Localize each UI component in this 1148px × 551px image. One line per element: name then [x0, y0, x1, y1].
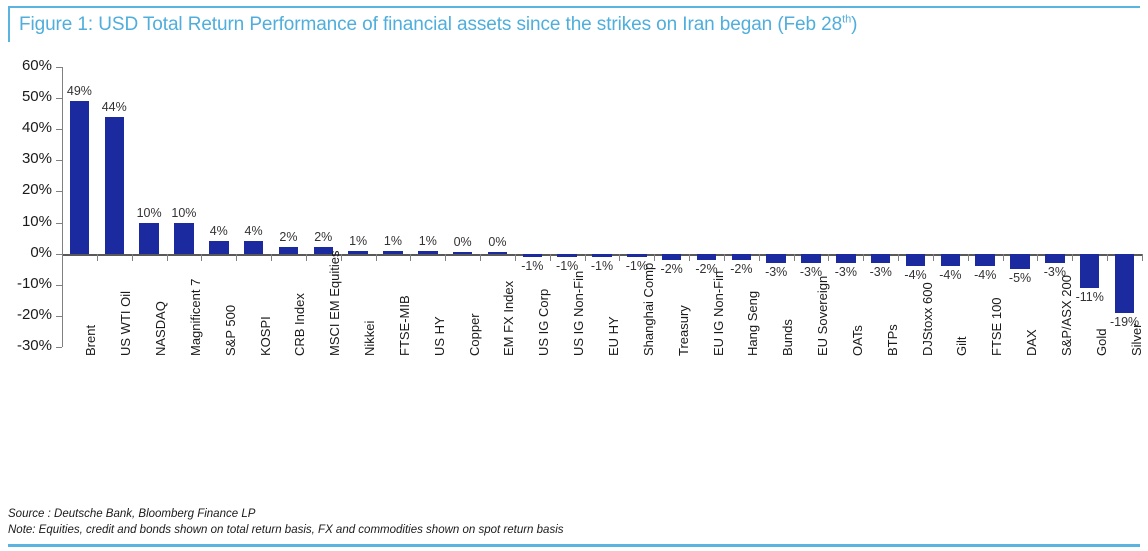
x-axis-tick [132, 254, 133, 261]
x-axis-tick [480, 254, 481, 261]
x-axis-tick [97, 254, 98, 261]
x-axis-tick [1072, 254, 1073, 261]
y-axis-label: 40% [0, 120, 52, 136]
bar [592, 254, 612, 257]
x-axis-category-label: EU Sovereign [816, 276, 829, 356]
x-axis-tick [863, 254, 864, 261]
bar [174, 223, 194, 254]
x-axis-tick [933, 254, 934, 261]
bar [836, 254, 856, 263]
x-axis-tick [1003, 254, 1004, 261]
bar [279, 247, 299, 253]
y-axis-label: 10% [0, 214, 52, 230]
y-axis-label: 20% [0, 182, 52, 198]
y-axis-label: 30% [0, 151, 52, 167]
x-axis-tick [585, 254, 586, 261]
x-axis-category-label: S&P 500 [224, 305, 237, 356]
x-axis-tick [445, 254, 446, 261]
x-axis-category-label: FTSE-MIB [398, 295, 411, 356]
bar [383, 251, 403, 254]
bar [1115, 254, 1135, 313]
x-axis-category-label: MSCI EM Equities [328, 251, 341, 356]
bar [1080, 254, 1100, 288]
x-axis-tick [689, 254, 690, 261]
x-axis-tick [341, 254, 342, 261]
x-axis-tick [654, 254, 655, 261]
x-axis-tick [794, 254, 795, 261]
figure-container: Figure 1: USD Total Return Performance o… [0, 0, 1148, 551]
y-axis-tick [56, 316, 62, 317]
x-axis-category-label: Nikkei [363, 321, 376, 356]
y-axis-label: 60% [0, 58, 52, 74]
x-axis-tick [236, 254, 237, 261]
x-axis-tick [724, 254, 725, 261]
y-axis-tick [56, 223, 62, 224]
bar [488, 252, 508, 254]
bar [732, 254, 752, 260]
y-axis-label: 0% [0, 245, 52, 261]
x-axis-category-label: S&P/ASX 200 [1060, 275, 1073, 356]
bar [871, 254, 891, 263]
x-axis-category-label: Brent [84, 325, 97, 356]
bar [523, 254, 543, 257]
y-axis-label: -10% [0, 276, 52, 292]
x-axis-category-label: DJStoxx 600 [921, 282, 934, 356]
x-axis-tick [550, 254, 551, 261]
x-axis-tick [968, 254, 969, 261]
x-axis-tick [759, 254, 760, 261]
y-axis-tick [56, 129, 62, 130]
bar [801, 254, 821, 263]
bar [697, 254, 717, 260]
x-axis-tick [1142, 254, 1143, 261]
x-axis-category-label: EU HY [607, 316, 620, 356]
bar-value-label: 49% [53, 85, 105, 98]
bar [662, 254, 682, 260]
x-axis-category-label: US HY [433, 316, 446, 356]
bar [418, 251, 438, 254]
bar [105, 117, 125, 254]
x-axis-tick [619, 254, 620, 261]
bar [941, 254, 961, 266]
x-axis-category-label: CRB Index [293, 293, 306, 356]
y-axis-label: -20% [0, 307, 52, 323]
bottom-divider [8, 544, 1140, 547]
y-axis-tick [56, 191, 62, 192]
x-axis-tick [1037, 254, 1038, 261]
x-axis-category-label: Treasury [677, 305, 690, 356]
y-axis-tick [56, 160, 62, 161]
x-axis-category-label: Bunds [781, 319, 794, 356]
x-axis-tick [306, 254, 307, 261]
bar [348, 251, 368, 254]
x-axis-category-label: Silver [1130, 323, 1143, 356]
x-axis-category-label: EM FX Index [502, 281, 515, 356]
bar-value-label: 10% [158, 207, 210, 220]
y-axis-label: -30% [0, 338, 52, 354]
y-axis-line [62, 67, 63, 347]
x-axis-tick [167, 254, 168, 261]
bar [139, 223, 159, 254]
bar [70, 101, 90, 253]
y-axis-tick [56, 67, 62, 68]
x-axis-category-label: BTPs [886, 324, 899, 356]
x-axis-category-label: US IG Non-Fin [572, 271, 585, 356]
x-axis-tick [898, 254, 899, 261]
x-axis-category-label: Magnificent 7 [189, 279, 202, 356]
x-axis-tick [410, 254, 411, 261]
x-axis-category-label: DAX [1025, 329, 1038, 356]
bar-value-label: 0% [471, 236, 523, 249]
x-axis-category-label: NASDAQ [154, 301, 167, 356]
bar [975, 254, 995, 266]
bar [244, 241, 264, 253]
x-axis-category-label: EU IG Non-Fin [712, 271, 725, 356]
x-axis-tick [515, 254, 516, 261]
x-axis-category-label: US IG Corp [537, 289, 550, 356]
x-axis-category-label: Gold [1095, 329, 1108, 356]
bar-value-label: -11% [1064, 291, 1116, 304]
x-axis-category-label: Shanghai Comp [642, 263, 655, 356]
bar [209, 241, 229, 253]
y-axis-tick [56, 347, 62, 348]
x-axis-category-label: KOSPI [259, 316, 272, 356]
y-axis-label: 50% [0, 89, 52, 105]
bar [453, 252, 473, 254]
x-axis-category-label: OATs [851, 325, 864, 356]
y-axis-tick [56, 285, 62, 286]
bar [557, 254, 577, 257]
bar-value-label: 44% [88, 101, 140, 114]
x-axis-tick [1107, 254, 1108, 261]
x-axis-category-label: Copper [468, 313, 481, 356]
methodology-note: Note: Equities, credit and bonds shown o… [8, 524, 564, 536]
bar [906, 254, 926, 266]
bar [1045, 254, 1065, 263]
x-axis-category-label: FTSE 100 [990, 297, 1003, 356]
x-axis-tick [376, 254, 377, 261]
source-note: Source : Deutsche Bank, Bloomberg Financ… [8, 508, 255, 520]
x-axis-category-label: US WTI Oil [119, 291, 132, 356]
x-axis-tick [62, 254, 63, 261]
bar [627, 254, 647, 257]
x-axis-category-label: Hang Seng [746, 291, 759, 356]
x-axis-category-label: Gilt [955, 337, 968, 357]
x-axis-tick [201, 254, 202, 261]
x-axis-tick [271, 254, 272, 261]
bar [766, 254, 786, 263]
bar [1010, 254, 1030, 270]
bar-chart-plot: 60%50%40%30%20%10%0%-10%-20%-30%49%Brent… [0, 0, 1148, 551]
x-axis-tick [828, 254, 829, 261]
